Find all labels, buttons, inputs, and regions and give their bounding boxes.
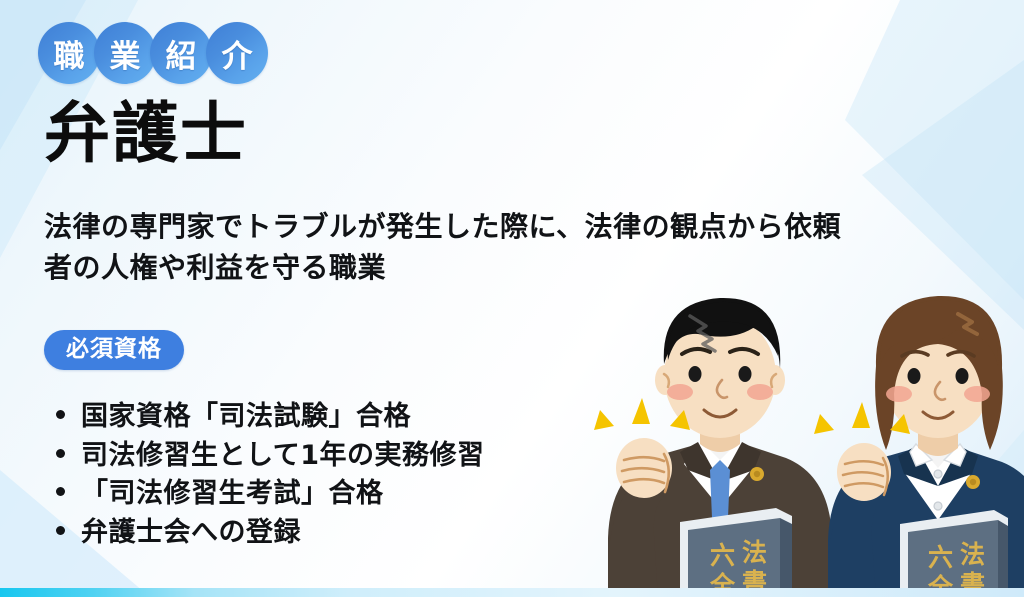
male-eye-left <box>689 366 702 382</box>
female-effort-mark-left <box>814 414 834 434</box>
female-book-title-char-2: 法 <box>960 540 985 569</box>
female-lawyer-figure: 六 法 全 書 <box>814 296 1024 597</box>
male-cheek-left <box>667 384 693 400</box>
category-char-circle-1: 職 <box>38 22 100 84</box>
category-badge: 職 業 紹 介 <box>38 22 268 84</box>
list-item: 司法修習生として1年の実務修習 <box>56 437 484 476</box>
lawyer-illustration: 六 法 全 書 <box>548 268 1024 597</box>
female-law-book: 六 法 全 書 <box>900 510 1008 597</box>
category-char-circle-2: 業 <box>94 22 156 84</box>
male-lawyer-figure: 六 法 全 書 <box>594 298 832 597</box>
female-lapel-badge-center <box>970 479 976 485</box>
lawyer-illustration-svg: 六 法 全 書 <box>548 268 1024 597</box>
female-blouse-button-1 <box>934 470 942 478</box>
female-book-title-char-1: 六 <box>928 543 953 572</box>
bullet-dot-icon <box>56 487 65 496</box>
female-eye-left <box>908 368 921 384</box>
male-effort-mark-center <box>632 398 650 424</box>
list-item-label: 「司法修習生考試」合格 <box>81 475 384 514</box>
list-item: 「司法修習生考試」合格 <box>56 475 484 514</box>
bullet-dot-icon <box>56 526 65 535</box>
job-description-line-1: 法律の専門家でトラブルが発生した際に、法律の観点から依頼 <box>44 207 989 248</box>
required-qualification-badge: 必須資格 <box>44 330 184 370</box>
list-item-label: 司法修習生として1年の実務修習 <box>81 437 484 476</box>
male-book-title-char-2: 法 <box>742 538 767 567</box>
required-qualification-list: 国家資格「司法試験」合格 司法修習生として1年の実務修習 「司法修習生考試」合格… <box>56 398 484 552</box>
female-cheek-right <box>964 386 990 402</box>
list-item: 弁護士会への登録 <box>56 514 484 553</box>
infographic-canvas: 職 業 紹 介 弁護士 法律の専門家でトラブルが発生した際に、法律の観点から依頼… <box>0 0 1024 597</box>
female-blouse-button-2 <box>934 502 942 510</box>
bullet-dot-icon <box>56 410 65 419</box>
male-book-title-char-1: 六 <box>710 541 735 570</box>
female-cheek-left <box>886 386 912 402</box>
list-item: 国家資格「司法試験」合格 <box>56 398 484 437</box>
male-law-book: 六 法 全 書 <box>680 508 792 597</box>
bottom-accent-bar <box>0 588 1024 597</box>
male-lapel-badge-center <box>754 471 760 477</box>
category-char-circle-4: 介 <box>206 22 268 84</box>
male-cheek-right <box>747 384 773 400</box>
category-char-circle-3: 紹 <box>150 22 212 84</box>
list-item-label: 国家資格「司法試験」合格 <box>81 398 411 437</box>
list-item-label: 弁護士会への登録 <box>81 514 301 553</box>
female-effort-mark-center <box>852 402 870 428</box>
female-book-spine <box>998 520 1008 597</box>
female-eye-right <box>956 368 969 384</box>
male-eye-right <box>739 366 752 382</box>
male-effort-mark-left <box>594 410 614 430</box>
male-book-spine <box>780 518 792 597</box>
bullet-dot-icon <box>56 449 65 458</box>
page-title: 弁護士 <box>44 101 248 167</box>
